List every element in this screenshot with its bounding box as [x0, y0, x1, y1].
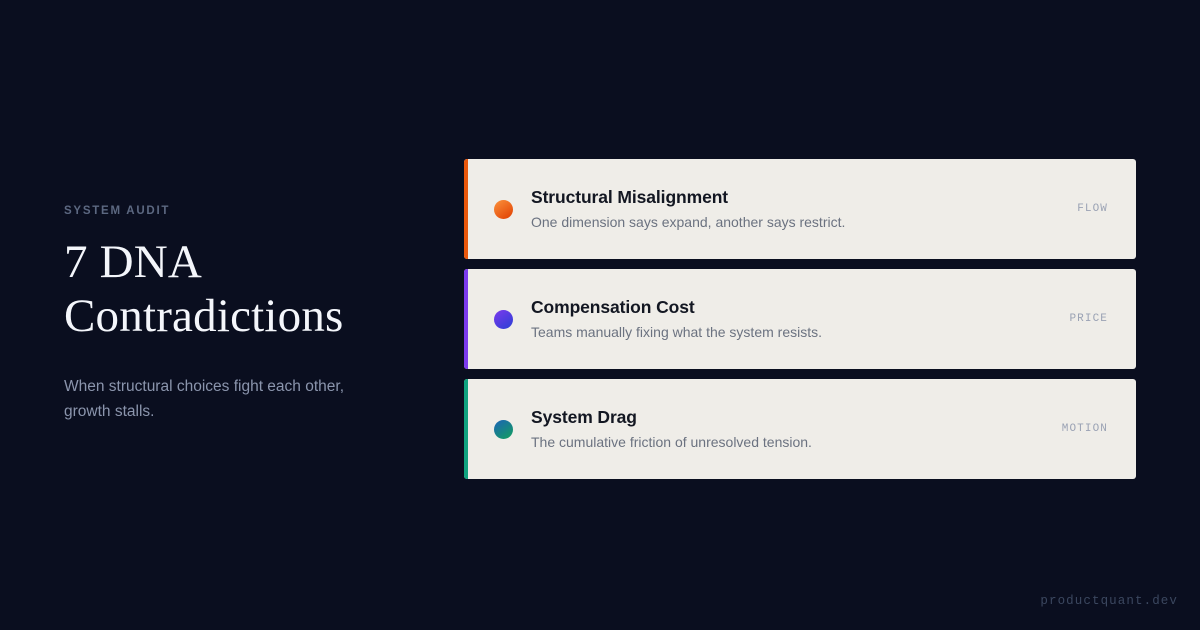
eyebrow-label: SYSTEM AUDIT — [64, 205, 414, 219]
brand-watermark: productquant.dev — [1040, 594, 1178, 608]
list-item[interactable]: Structural Misalignment One dimension sa… — [464, 159, 1136, 259]
card-body: Compensation Cost Teams manually fixing … — [531, 296, 1069, 343]
contradiction-card-list: Structural Misalignment One dimension sa… — [464, 159, 1136, 479]
card-body: Structural Misalignment One dimension sa… — [531, 186, 1077, 233]
category-badge: MOTION — [1062, 423, 1108, 435]
status-dot-icon — [494, 200, 513, 219]
category-badge: FLOW — [1077, 203, 1108, 215]
status-dot-icon — [494, 420, 513, 439]
card-title: System Drag — [531, 406, 1062, 429]
card-title: Structural Misalignment — [531, 186, 1077, 209]
list-item[interactable]: System Drag The cumulative friction of u… — [464, 379, 1136, 479]
page-title: 7 DNA Contradictions — [64, 235, 414, 344]
card-title: Compensation Cost — [531, 296, 1069, 319]
list-item[interactable]: Compensation Cost Teams manually fixing … — [464, 269, 1136, 369]
category-badge: PRICE — [1069, 313, 1108, 325]
poster-canvas: SYSTEM AUDIT 7 DNA Contradictions When s… — [0, 0, 1200, 630]
accent-bar — [464, 379, 468, 479]
accent-bar — [464, 269, 468, 369]
status-dot-icon — [494, 310, 513, 329]
intro-panel: SYSTEM AUDIT 7 DNA Contradictions When s… — [64, 205, 414, 424]
card-body: System Drag The cumulative friction of u… — [531, 406, 1062, 453]
page-subtitle: When structural choices fight each other… — [64, 374, 384, 424]
card-description: One dimension says expand, another says … — [531, 213, 1077, 232]
card-description: The cumulative friction of unresolved te… — [531, 433, 1062, 452]
card-description: Teams manually fixing what the system re… — [531, 323, 1069, 342]
accent-bar — [464, 159, 468, 259]
